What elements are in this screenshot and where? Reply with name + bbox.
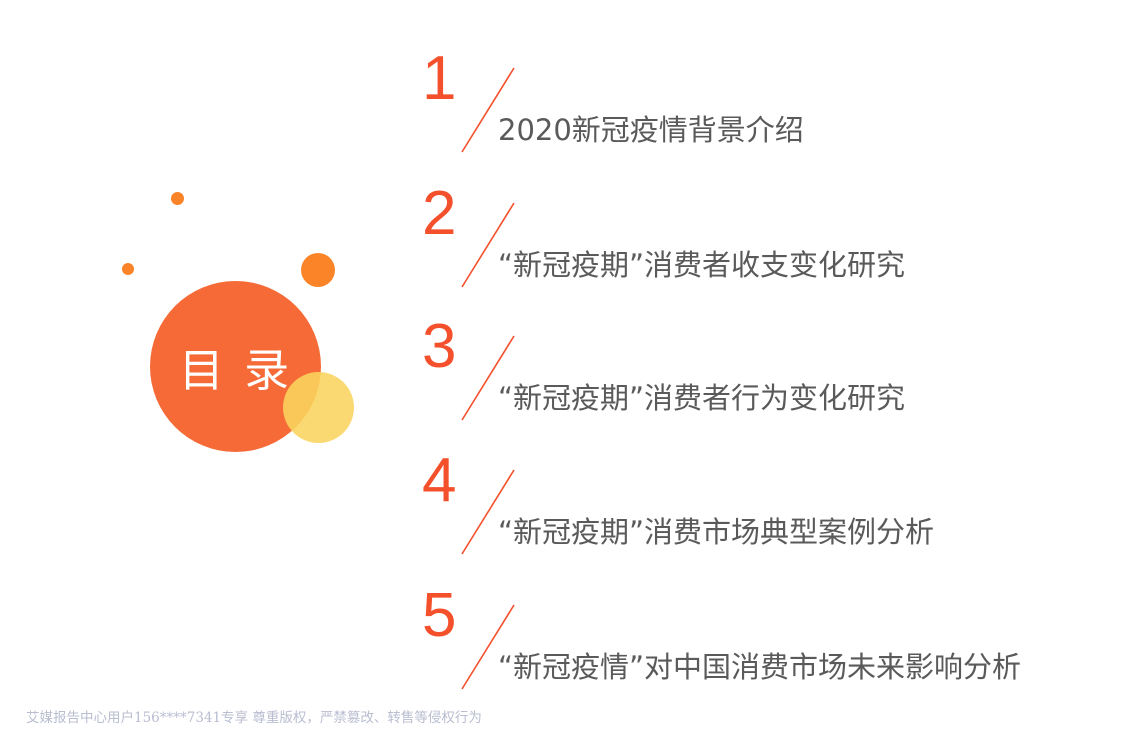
toc-number-1: 1 — [422, 48, 456, 110]
toc-item-5[interactable]: 5 “新冠疫情”对中国消费市场未来影响分析 — [414, 585, 1133, 717]
toc-label-5: “新冠疫情”对中国消费市场未来影响分析 — [498, 647, 1021, 687]
toc-number-4: 4 — [422, 450, 456, 512]
toc-item-1[interactable]: 1 2020新冠疫情背景介绍 — [414, 48, 1133, 180]
toc-label-3: “新冠疫期”消费者行为变化研究 — [498, 378, 905, 418]
contents-badge-label: 目 录 — [150, 281, 321, 452]
toc-number-2: 2 — [422, 183, 456, 245]
toc-item-2[interactable]: 2 “新冠疫期”消费者收支变化研究 — [414, 183, 1133, 315]
small-dot-icon-1 — [171, 192, 184, 205]
toc-item-3[interactable]: 3 “新冠疫期”消费者行为变化研究 — [414, 316, 1133, 448]
toc-number-3: 3 — [422, 316, 456, 378]
slide-canvas: 目 录 1 2020新冠疫情背景介绍 2 “新冠疫期”消费者收支变化研究 3 “… — [0, 0, 1133, 736]
watermark-footer: 艾媒报告中心用户156****7341专享 尊重版权，严禁篡改、转售等侵权行为 — [26, 709, 482, 727]
toc-label-1: 2020新冠疫情背景介绍 — [498, 110, 804, 150]
toc-number-5: 5 — [422, 585, 456, 647]
table-of-contents: 1 2020新冠疫情背景介绍 2 “新冠疫期”消费者收支变化研究 3 “新冠疫期… — [414, 0, 1133, 736]
decorative-circle-cluster: 目 录 — [0, 0, 420, 736]
toc-label-4: “新冠疫期”消费市场典型案例分析 — [498, 512, 934, 552]
toc-label-2: “新冠疫期”消费者收支变化研究 — [498, 245, 905, 285]
small-dot-icon-2 — [122, 263, 134, 275]
toc-item-4[interactable]: 4 “新冠疫期”消费市场典型案例分析 — [414, 450, 1133, 582]
